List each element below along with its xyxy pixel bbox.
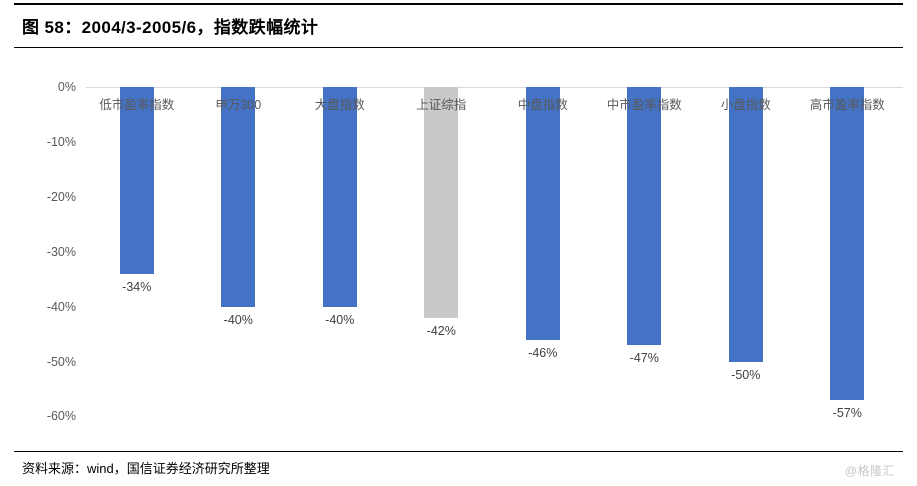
category-label: 高市盈率指数	[810, 94, 885, 113]
bar-group: 大盘指数-40%	[289, 56, 391, 446]
value-label: -47%	[630, 351, 659, 365]
y-axis-tick: -60%	[47, 409, 76, 423]
plot-area: 0%-10%-20%-30%-40%-50%-60%低市盈率指数-34%申万30…	[86, 56, 903, 446]
bar-group: 中市盈率指数-47%	[594, 56, 696, 446]
source-note: 资料来源：wind，国信证券经济研究所整理	[22, 458, 270, 477]
y-axis-tick: -40%	[47, 300, 76, 314]
y-axis-tick: -10%	[47, 135, 76, 149]
bar-group: 中盘指数-46%	[492, 56, 594, 446]
bottom-divider	[14, 451, 903, 452]
category-label: 中盘指数	[518, 94, 568, 113]
title-divider	[14, 47, 903, 48]
bar-group: 小盘指数-50%	[695, 56, 797, 446]
category-label: 中市盈率指数	[607, 94, 682, 113]
value-label: -57%	[833, 406, 862, 420]
bar[interactable]	[221, 87, 255, 307]
category-label: 小盘指数	[721, 94, 771, 113]
category-label: 申万300	[215, 94, 261, 113]
bar[interactable]	[424, 87, 458, 318]
category-label: 大盘指数	[315, 94, 365, 113]
bar-group: 低市盈率指数-34%	[86, 56, 188, 446]
bar-group: 申万300-40%	[188, 56, 290, 446]
bar[interactable]	[729, 87, 763, 362]
value-label: -40%	[224, 313, 253, 327]
value-label: -34%	[122, 280, 151, 294]
figure-page: 图 58：2004/3-2005/6，指数跌幅统计 0%-10%-20%-30%…	[0, 0, 917, 486]
category-label: 上证综指	[416, 94, 466, 113]
value-label: -50%	[731, 368, 760, 382]
bar-group: 上证综指-42%	[391, 56, 493, 446]
page-title: 图 58：2004/3-2005/6，指数跌幅统计	[22, 12, 318, 44]
bar[interactable]	[120, 87, 154, 274]
value-label: -40%	[325, 313, 354, 327]
y-axis-tick: -50%	[47, 355, 76, 369]
value-label: -42%	[427, 324, 456, 338]
bar[interactable]	[526, 87, 560, 340]
top-divider	[14, 3, 903, 5]
bar[interactable]	[830, 87, 864, 400]
y-axis-tick: -30%	[47, 245, 76, 259]
bar-group: 高市盈率指数-57%	[797, 56, 899, 446]
bar-chart: 0%-10%-20%-30%-40%-50%-60%低市盈率指数-34%申万30…	[0, 56, 917, 446]
bar[interactable]	[627, 87, 661, 345]
y-axis-tick: 0%	[58, 80, 76, 94]
bar[interactable]	[323, 87, 357, 307]
category-label: 低市盈率指数	[99, 94, 174, 113]
value-label: -46%	[528, 346, 557, 360]
y-axis-tick: -20%	[47, 190, 76, 204]
watermark: @格隆汇	[845, 462, 895, 479]
